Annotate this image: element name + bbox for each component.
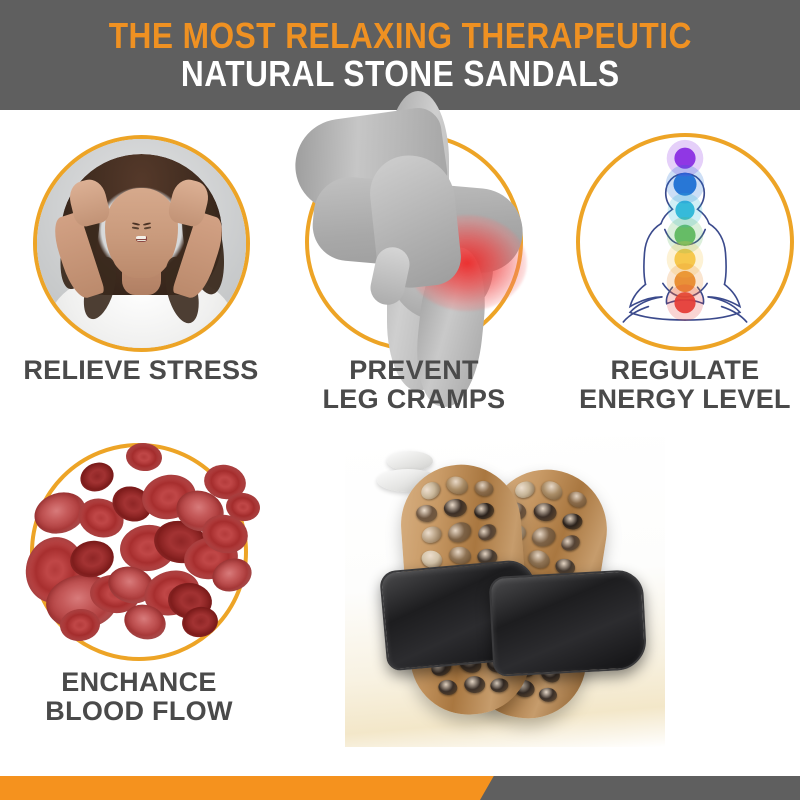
massage-stone: [448, 545, 473, 566]
prevent-leg-cramps-circle-frame: [305, 133, 523, 351]
blood-cell: [125, 441, 164, 473]
massage-stone: [445, 518, 475, 546]
velcro-strap-right: [488, 569, 647, 677]
relieve-stress-circle-frame: [33, 135, 250, 352]
massage-stone: [490, 677, 509, 693]
massage-stone: [420, 524, 444, 546]
leg-cramp-photo: [269, 97, 567, 395]
massage-stone: [443, 498, 467, 518]
bottom-accent-bar: [0, 776, 800, 800]
blood-cell: [76, 458, 118, 497]
massage-stone: [532, 501, 558, 522]
massage-stone: [538, 687, 558, 703]
massage-stone: [526, 547, 553, 571]
massage-stone: [530, 525, 558, 549]
massage-stone: [475, 521, 499, 544]
regulate-energy-circle-frame: [576, 133, 794, 351]
zen-stone-top: [387, 451, 433, 471]
massage-stone: [437, 679, 458, 696]
massage-stone: [566, 489, 590, 511]
benefit-caption-regulate-energy-level: REGULATE ENERGY LEVEL: [525, 356, 800, 414]
bottom-bar-orange-segment: [0, 776, 502, 800]
massage-stone: [538, 477, 566, 503]
massage-stone: [416, 505, 438, 523]
bottom-bar-gray-segment: [480, 776, 800, 800]
enchance-blood-flow-circle-frame: [30, 443, 248, 661]
massage-stone: [444, 474, 470, 497]
chakra-meditation-illustration: [580, 137, 790, 347]
header-title-line1: THE MOST RELAXING THERAPEUTIC: [108, 18, 691, 54]
red-blood-cells-illustration: [16, 429, 270, 683]
massage-stone: [464, 676, 485, 693]
infographic-page: THE MOST RELAXING THERAPEUTIC NATURAL ST…: [0, 0, 800, 800]
benefit-caption-enchance-blood-flow: ENCHANCE BLOOD FLOW: [0, 668, 299, 726]
massage-stone: [562, 513, 583, 530]
massage-stone: [473, 479, 495, 498]
header-title-line2: NATURAL STONE SANDALS: [181, 56, 620, 92]
massage-stone: [418, 478, 444, 502]
product-photo-stone-sandals: [345, 437, 665, 747]
header-banner: THE MOST RELAXING THERAPEUTIC NATURAL ST…: [0, 0, 800, 110]
massage-stone: [513, 479, 537, 501]
massage-stone: [473, 501, 496, 521]
massage-stone: [559, 533, 582, 554]
stressed-woman-photo: [35, 137, 248, 350]
